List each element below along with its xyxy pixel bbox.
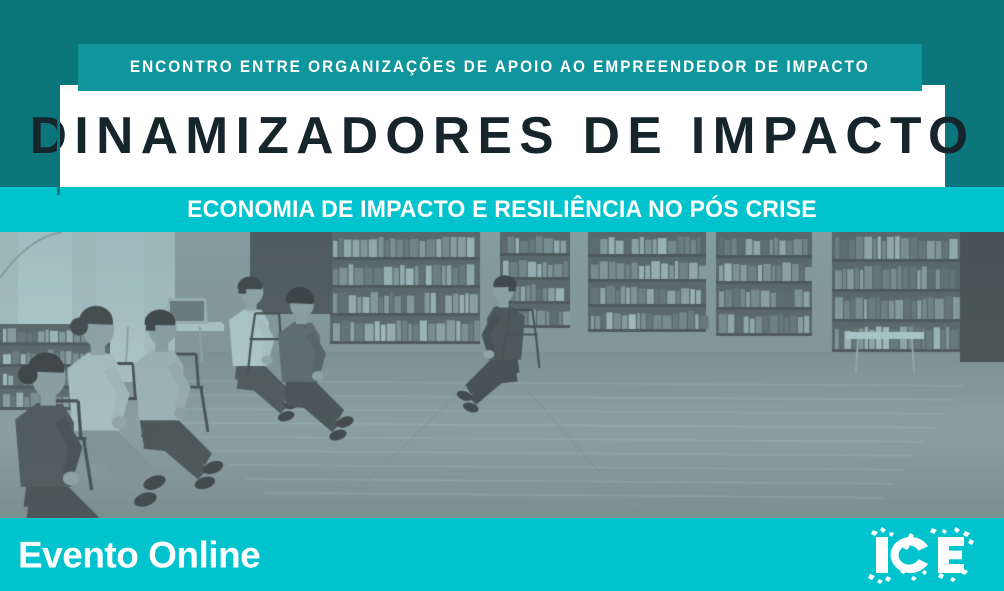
eyebrow-band: ENCONTRO ENTRE ORGANIZAÇÕES DE APOIO AO … <box>78 44 922 91</box>
page-title: DINAMIZADORES DE IMPACTO <box>30 110 976 162</box>
title-left-rule <box>57 85 60 195</box>
eyebrow-text: ENCONTRO ENTRE ORGANIZAÇÕES DE APOIO AO … <box>130 59 870 76</box>
event-format-label: Evento Online <box>18 536 260 573</box>
event-poster: ENCONTRO ENTRE ORGANIZAÇÕES DE APOIO AO … <box>0 0 1004 591</box>
subtitle-text: ECONOMIA DE IMPACTO E RESILIÊNCIA NO PÓS… <box>187 198 817 222</box>
event-photo <box>0 232 1004 518</box>
title-box: DINAMIZADORES DE IMPACTO <box>60 85 945 187</box>
footer-bar: Evento Online <box>0 518 1004 591</box>
subtitle-band: ECONOMIA DE IMPACTO E RESILIÊNCIA NO PÓS… <box>0 187 1004 232</box>
meeting-photo-image <box>0 232 1004 518</box>
ice-logo <box>866 524 978 586</box>
